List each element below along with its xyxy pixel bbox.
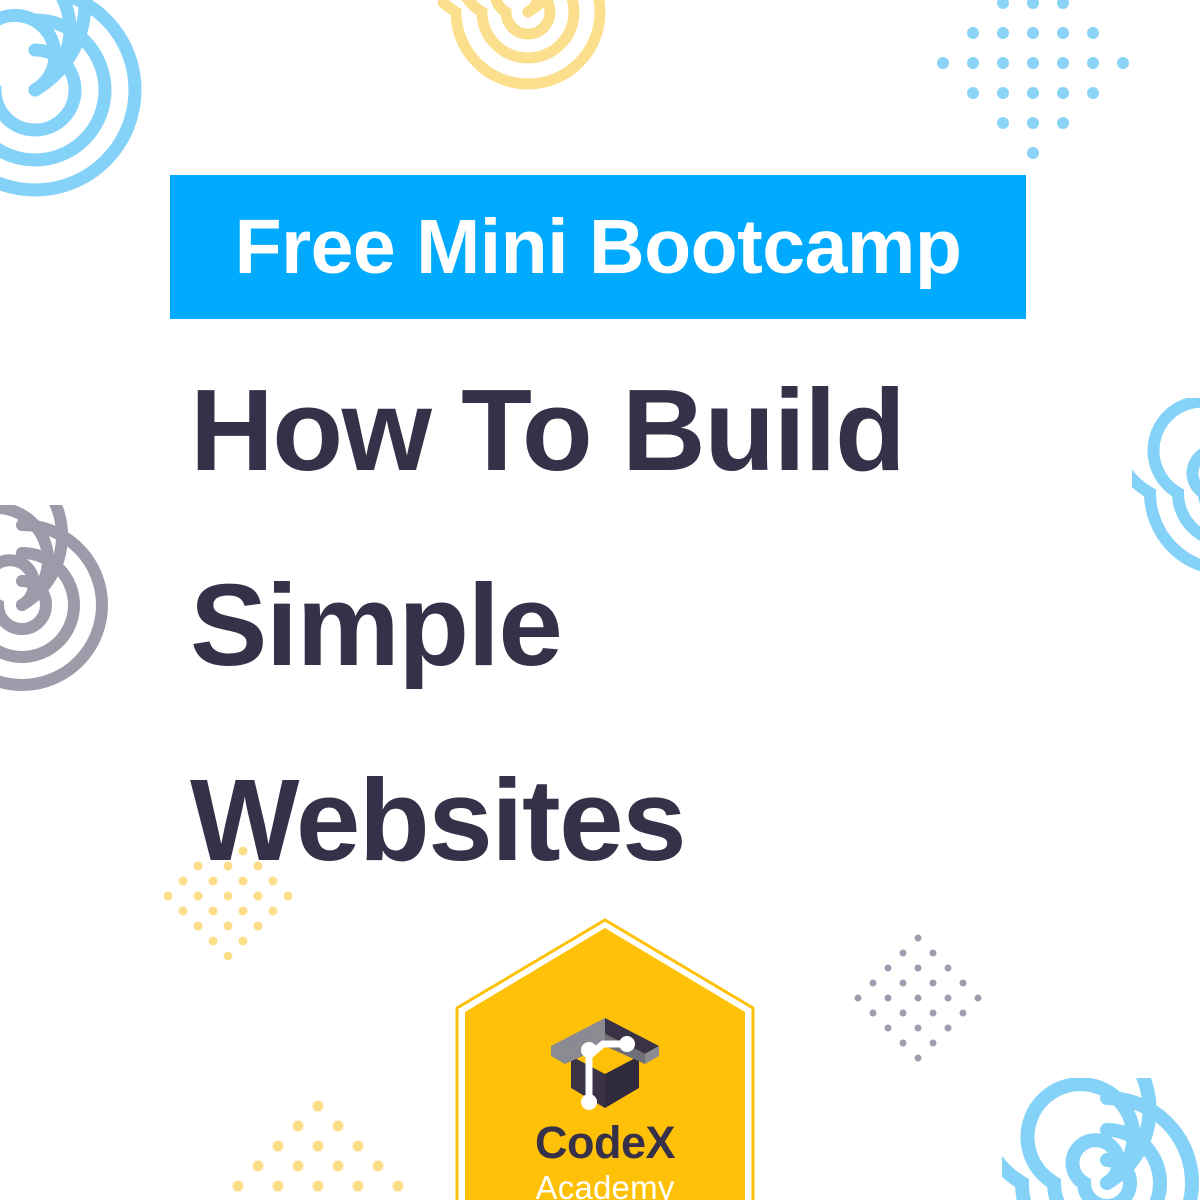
headline-line-1: How To Build — [190, 333, 1090, 528]
spiral-blue-right-icon — [1132, 398, 1200, 588]
spiral-blue-top-left-icon — [0, 0, 160, 215]
graduation-cap-icon — [541, 1016, 669, 1112]
spiral-gray-left-icon — [0, 505, 122, 705]
poster-canvas: Free Mini Bootcamp How To Build Simple W… — [0, 0, 1200, 1200]
dots-yellow-bottom-left-icon — [228, 1078, 408, 1200]
page-title: How To Build Simple Websites — [190, 333, 1090, 918]
spiral-blue-bottom-right-icon — [1002, 1078, 1200, 1200]
bootcamp-banner-label: Free Mini Bootcamp — [235, 209, 962, 286]
dots-blue-top-right-icon — [918, 0, 1148, 178]
logo-brand-name: CodeX — [535, 1120, 675, 1165]
bootcamp-banner: Free Mini Bootcamp — [170, 175, 1026, 319]
logo-sub-brand-name: Academy — [536, 1171, 675, 1200]
dots-gray-right-icon — [848, 928, 988, 1068]
spiral-yellow-top-center-icon — [438, 0, 618, 102]
headline-line-3: Websites — [190, 723, 1090, 918]
codex-academy-badge: CodeX Academy — [455, 918, 755, 1200]
headline-line-2: Simple — [190, 528, 1090, 723]
